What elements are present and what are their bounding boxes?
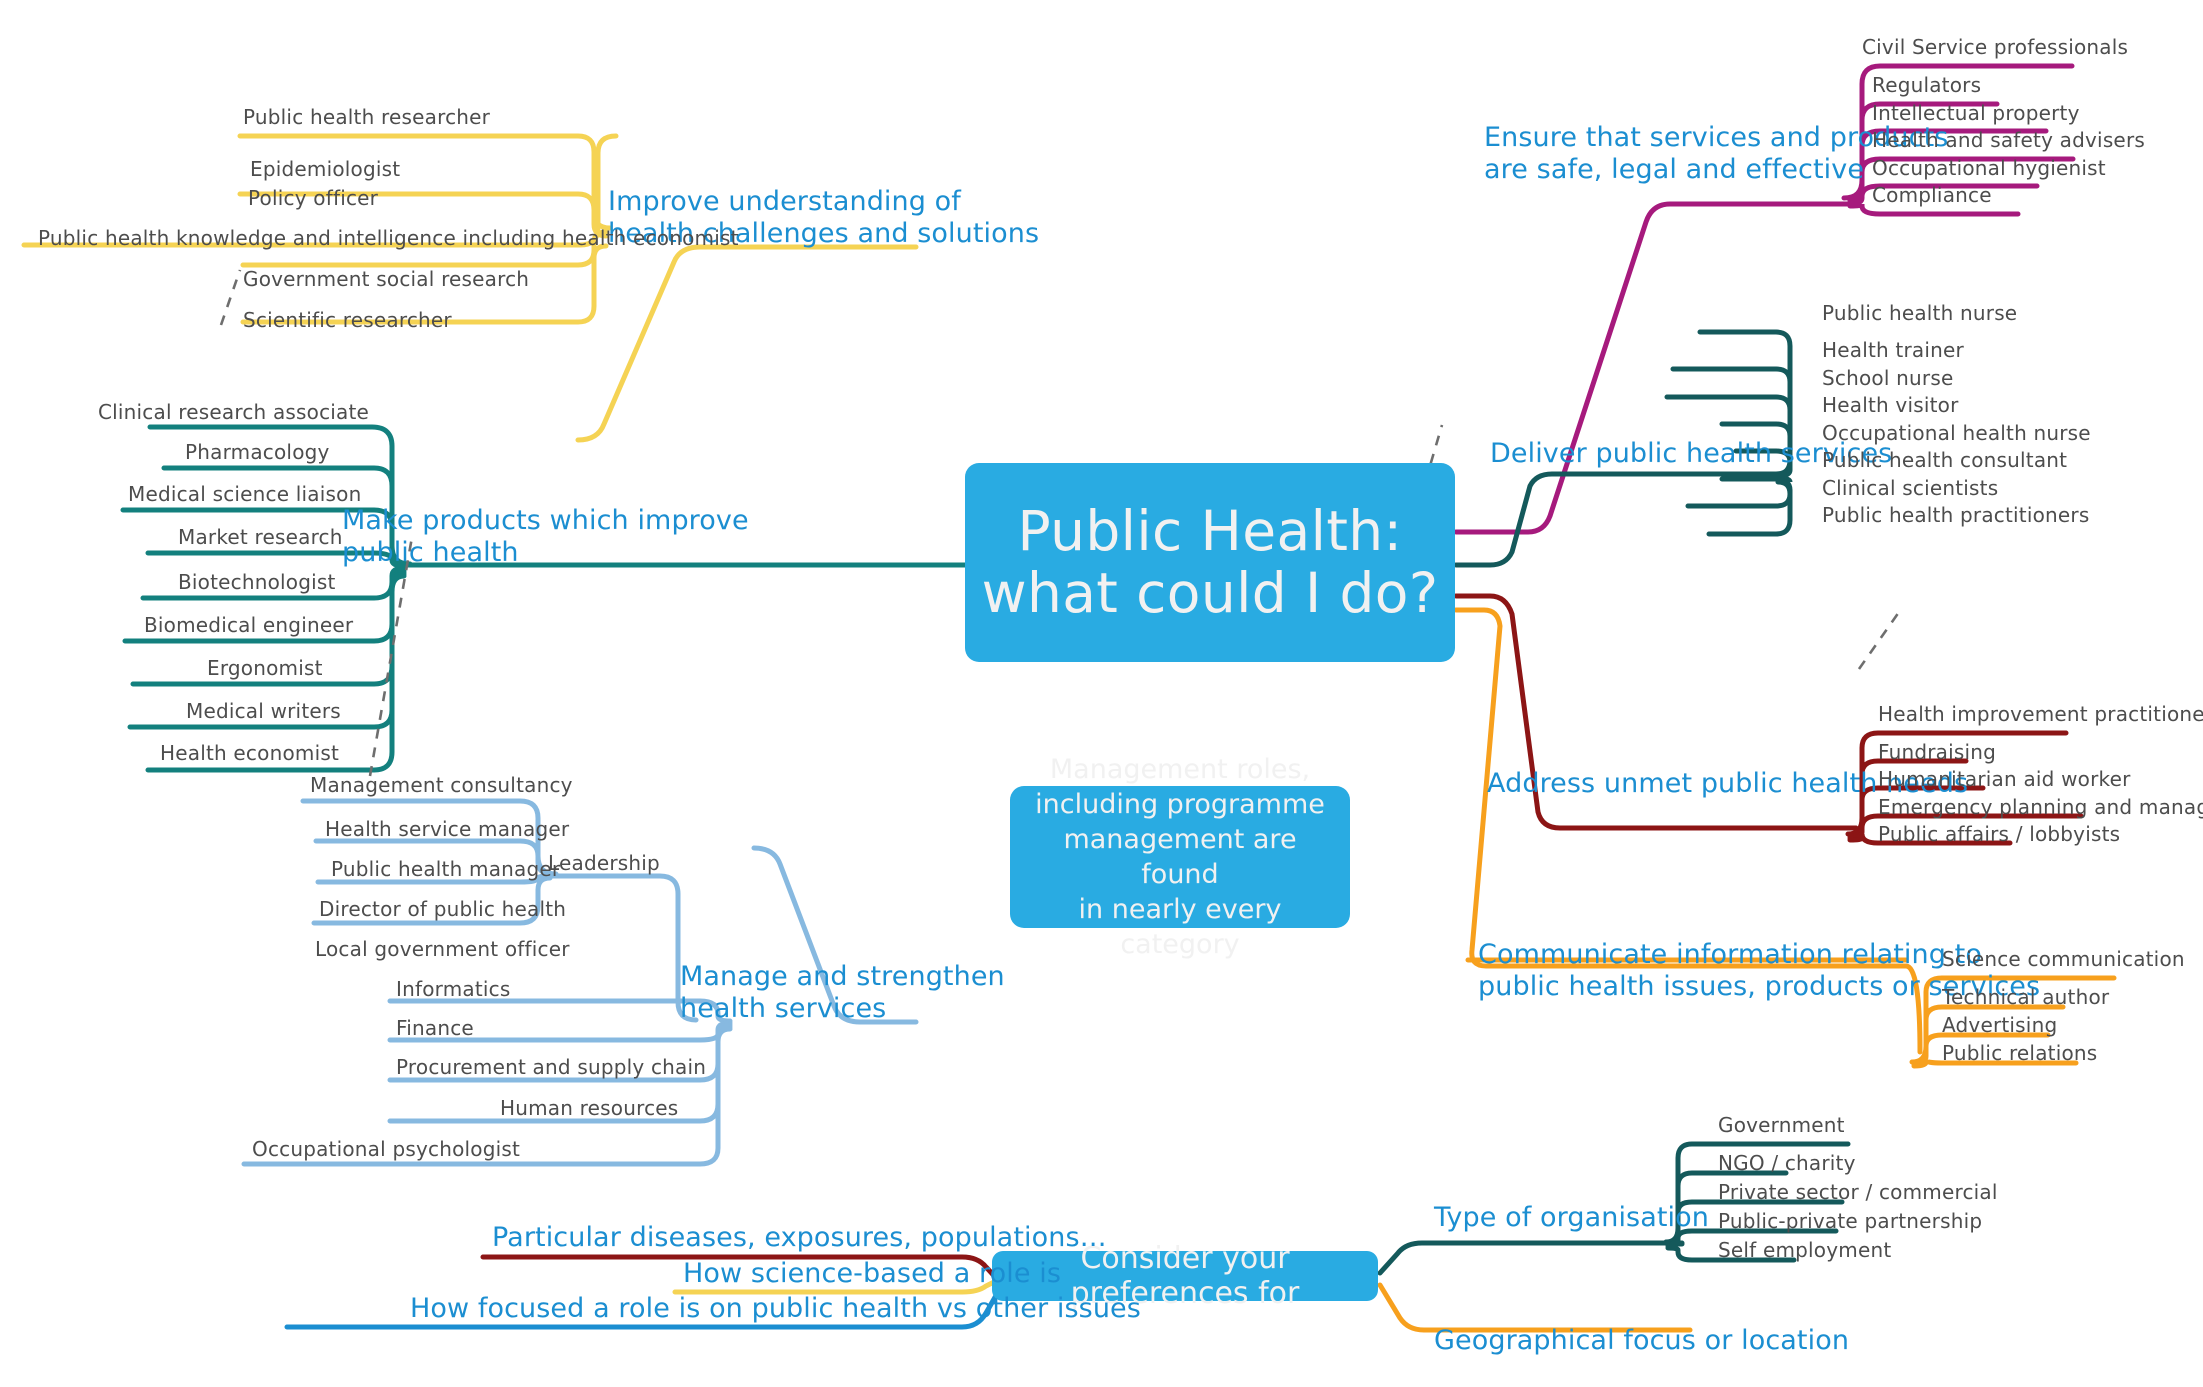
- leaf-public-health-practitioners[interactable]: Public health practitioners: [1822, 504, 2089, 527]
- pref-item-label: How science-based a role is: [683, 1258, 1061, 1290]
- leaf-epidemiologist[interactable]: Epidemiologist: [250, 158, 400, 181]
- leaf-finance[interactable]: Finance: [396, 1017, 474, 1040]
- branch-label-type-of-organisation[interactable]: Type of organisation: [1434, 1202, 1709, 1234]
- leaf-government[interactable]: Government: [1718, 1114, 1845, 1137]
- callout-line1: Management roles,: [1024, 752, 1336, 787]
- leaf-leadership[interactable]: Leadership: [548, 852, 660, 875]
- leaf-clinical-research-associate[interactable]: Clinical research associate: [98, 401, 369, 424]
- root-title-line2: what could I do?: [982, 563, 1439, 625]
- branch-label-line1: Geographical focus or location: [1434, 1325, 1849, 1357]
- branch-label-line1: Type of organisation: [1434, 1202, 1709, 1234]
- leaf-fundraising[interactable]: Fundraising: [1878, 741, 1996, 764]
- leaf-medical-science-liaison[interactable]: Medical science liaison: [128, 483, 361, 506]
- leaf-compliance[interactable]: Compliance: [1872, 184, 1992, 207]
- leaf-health-economist[interactable]: Health economist: [160, 742, 339, 765]
- leaf-management-consultancy[interactable]: Management consultancy: [310, 774, 573, 797]
- leaf-public-private-partnership[interactable]: Public-private partnership: [1718, 1210, 1982, 1233]
- leaf-health-safety-advisers[interactable]: Health and safety advisers: [1872, 129, 2145, 152]
- leaf-occupational-psychologist[interactable]: Occupational psychologist: [252, 1138, 520, 1161]
- pref-item-how-science-based[interactable]: How science-based a role is: [683, 1258, 1061, 1290]
- leaf-informatics[interactable]: Informatics: [396, 978, 510, 1001]
- mindmap-canvas: Public Health: what could I do? Manageme…: [0, 0, 2203, 1387]
- leaf-health-trainer[interactable]: Health trainer: [1822, 339, 1964, 362]
- callout-line3: management are found: [1024, 822, 1336, 892]
- leaf-procurement-supply-chain[interactable]: Procurement and supply chain: [396, 1056, 706, 1079]
- callout-line4: in nearly every category: [1024, 892, 1336, 962]
- branch-label-line1: Improve understanding of: [608, 186, 1039, 218]
- leaf-occupational-health-nurse[interactable]: Occupational health nurse: [1822, 422, 2091, 445]
- leaf-scientific-researcher[interactable]: Scientific researcher: [243, 309, 452, 332]
- callout-line2: including programme: [1024, 787, 1336, 822]
- leaf-science-communication[interactable]: Science communication: [1942, 948, 2185, 971]
- dashed-link-scientific-to-clinical: [221, 270, 240, 325]
- leaf-school-nurse[interactable]: School nurse: [1822, 367, 1953, 390]
- dashed-link-management-consultancy: [370, 537, 412, 776]
- leaf-occupational-hygienist[interactable]: Occupational hygienist: [1872, 157, 2106, 180]
- root-node[interactable]: Public Health: what could I do?: [965, 463, 1455, 662]
- pref-item-particular-diseases[interactable]: Particular diseases, exposures, populati…: [492, 1222, 1107, 1254]
- branch-label-make-products[interactable]: Make products which improve public healt…: [342, 505, 749, 569]
- callout-note: Management roles, including programme ma…: [1010, 786, 1350, 928]
- leaf-advertising[interactable]: Advertising: [1942, 1014, 2057, 1037]
- pref-item-label: Particular diseases, exposures, populati…: [492, 1222, 1107, 1254]
- leaf-local-government-officer[interactable]: Local government officer: [315, 938, 570, 961]
- leaf-government-social-research[interactable]: Government social research: [243, 268, 529, 291]
- branch-label-geographical-focus[interactable]: Geographical focus or location: [1434, 1325, 1849, 1357]
- leaf-health-improvement-practitioners[interactable]: Health improvement practitioners: [1878, 703, 2203, 726]
- leaf-ergonomist[interactable]: Ergonomist: [207, 657, 323, 680]
- branch-label-manage-strengthen[interactable]: Manage and strengthen health services: [680, 961, 1005, 1025]
- branch-label-line1: Manage and strengthen: [680, 961, 1005, 993]
- leaf-public-affairs-lobbyists[interactable]: Public affairs / lobbyists: [1878, 823, 2120, 846]
- leaf-medical-writers[interactable]: Medical writers: [186, 700, 341, 723]
- wire-prefs-right: [1380, 1243, 1690, 1330]
- leaf-private-sector-commercial[interactable]: Private sector / commercial: [1718, 1181, 1998, 1204]
- leaf-public-health-nurse[interactable]: Public health nurse: [1822, 302, 2017, 325]
- pref-item-label: How focused a role is on public health v…: [410, 1293, 1141, 1325]
- leaf-public-health-manager[interactable]: Public health manager: [331, 858, 560, 881]
- leaf-public-health-consultant[interactable]: Public health consultant: [1822, 449, 2067, 472]
- branch-label-line1: Make products which improve: [342, 505, 749, 537]
- leaf-biomedical-engineer[interactable]: Biomedical engineer: [144, 614, 353, 637]
- leaf-health-visitor[interactable]: Health visitor: [1822, 394, 1959, 417]
- leaf-intellectual-property[interactable]: Intellectual property: [1872, 102, 2080, 125]
- leaf-pharmacology[interactable]: Pharmacology: [185, 441, 330, 464]
- leaf-ph-knowledge-intelligence[interactable]: Public health knowledge and intelligence…: [38, 227, 739, 250]
- leaf-public-relations[interactable]: Public relations: [1942, 1042, 2097, 1065]
- pref-item-how-focused[interactable]: How focused a role is on public health v…: [410, 1293, 1141, 1325]
- leaf-technical-author[interactable]: Technical author: [1942, 986, 2109, 1009]
- leaf-market-research[interactable]: Market research: [178, 526, 343, 549]
- leaf-public-health-researcher[interactable]: Public health researcher: [243, 106, 490, 129]
- branch-label-line2: health services: [680, 993, 1005, 1025]
- leaf-human-resources[interactable]: Human resources: [500, 1097, 678, 1120]
- dashed-link-public-affairs-science-comm: [1859, 612, 1899, 669]
- leaf-health-service-manager[interactable]: Health service manager: [325, 818, 569, 841]
- root-title-line1: Public Health:: [982, 501, 1439, 563]
- leaf-self-employment[interactable]: Self employment: [1718, 1239, 1891, 1262]
- leaf-policy-officer[interactable]: Policy officer: [248, 187, 378, 210]
- leaf-biotechnologist[interactable]: Biotechnologist: [178, 571, 336, 594]
- leaf-director-of-public-health[interactable]: Director of public health: [319, 898, 566, 921]
- leaf-emergency-planning-management[interactable]: Emergency planning and management: [1878, 796, 2203, 819]
- leaf-humanitarian-aid-worker[interactable]: Humanitarian aid worker: [1878, 768, 2131, 791]
- leaf-regulators[interactable]: Regulators: [1872, 74, 1981, 97]
- leaf-civil-service-professionals[interactable]: Civil Service professionals: [1862, 36, 2128, 59]
- branch-label-line2: public health: [342, 537, 749, 569]
- leaf-ngo-charity[interactable]: NGO / charity: [1718, 1152, 1856, 1175]
- leaf-clinical-scientists[interactable]: Clinical scientists: [1822, 477, 1998, 500]
